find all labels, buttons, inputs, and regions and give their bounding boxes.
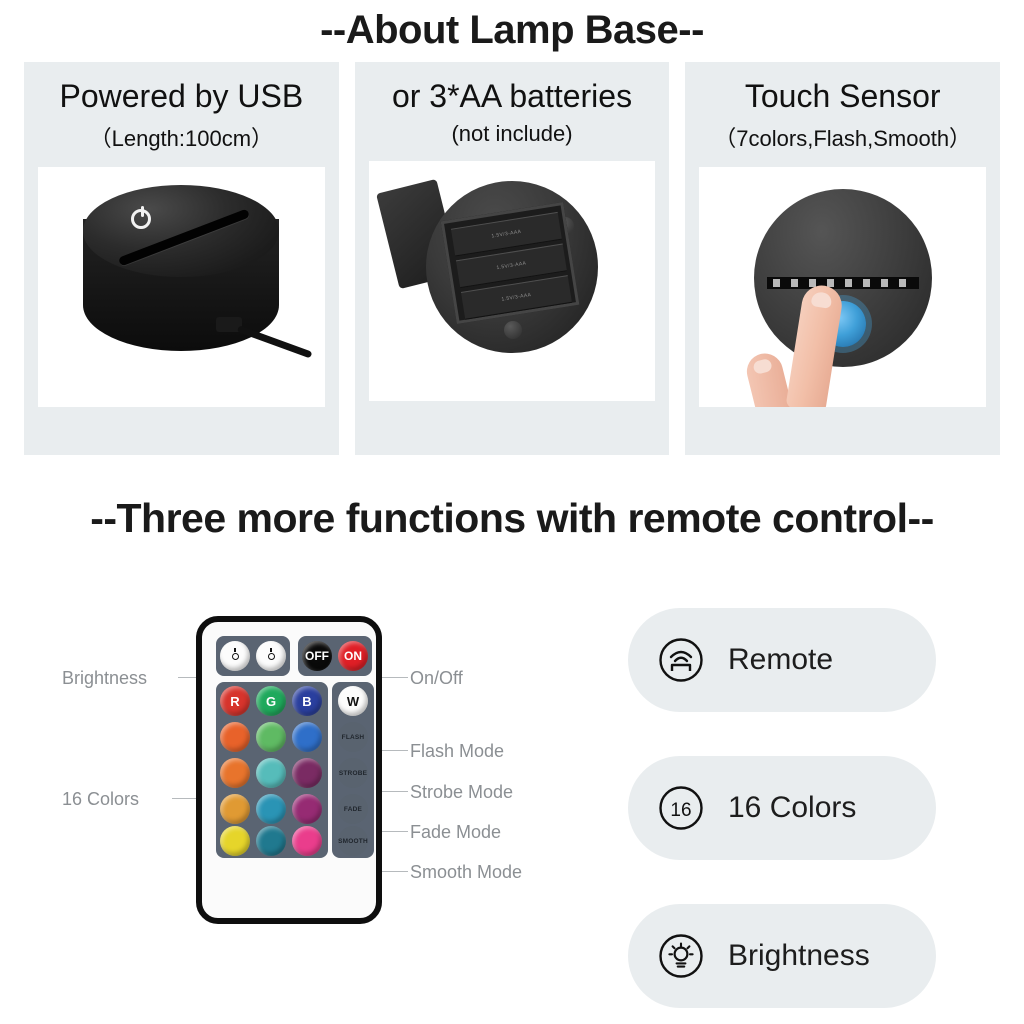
rubber-foot	[504, 321, 522, 339]
lamp-base-top-view	[754, 189, 932, 367]
color-button-11[interactable]	[256, 826, 286, 856]
power-pad: OFF ON	[298, 636, 372, 676]
page-title-remote-functions: --Three more functions with remote contr…	[0, 495, 1024, 542]
color-button-1[interactable]	[220, 722, 250, 752]
badge-label: Brightness	[728, 939, 870, 973]
sun-small-icon	[228, 649, 243, 664]
color-button-6[interactable]	[292, 758, 322, 788]
touch-sensor-photo	[699, 167, 986, 407]
color-button-r[interactable]: R	[220, 686, 250, 716]
card-title: or 3*AA batteries	[392, 76, 632, 116]
badge-label: 16 Colors	[728, 791, 856, 825]
card-subtitle: （Length:100cm）	[90, 121, 273, 153]
leader-line	[382, 677, 408, 678]
battery-compartment-photo: 1.5V/3-AAA 1.5V/3-AAA 1.5V/3-AAA	[369, 161, 656, 401]
color-button-12[interactable]	[292, 826, 322, 856]
badge-remote[interactable]: Remote	[628, 608, 936, 712]
leader-line	[382, 750, 408, 751]
lamp-base-underside: 1.5V/3-AAA 1.5V/3-AAA 1.5V/3-AAA	[426, 181, 598, 353]
callout-strobe-mode: Strobe Mode	[410, 782, 513, 803]
color-button-b[interactable]: B	[292, 686, 322, 716]
mode-pad: W FLASH STROBE FADE SMOOTH	[332, 682, 374, 858]
led-strip	[767, 277, 919, 289]
card-title: Powered by USB	[60, 76, 304, 116]
power-on-button[interactable]: ON	[338, 641, 368, 671]
badge-label: Remote	[728, 643, 833, 677]
color-button-w[interactable]: W	[338, 686, 368, 716]
callout-16-colors: 16 Colors	[62, 789, 139, 810]
smooth-mode-button[interactable]: SMOOTH	[338, 826, 368, 856]
badge-16-colors[interactable]: 16 16 Colors	[628, 756, 936, 860]
card-subtitle: (not include)	[451, 121, 572, 147]
color-button-8[interactable]	[256, 794, 286, 824]
color-button-g[interactable]: G	[256, 686, 286, 716]
color-button-9[interactable]	[292, 794, 322, 824]
svg-text:16: 16	[670, 800, 691, 821]
page-title-about-lamp-base: --About Lamp Base--	[0, 8, 1024, 53]
remote-control[interactable]: OFF ON R G B W FLASH STROBE FADE SMO	[196, 616, 382, 924]
usb-cable	[237, 325, 313, 358]
fade-mode-button[interactable]: FADE	[338, 794, 368, 824]
card-powered-by-usb: Powered by USB （Length:100cm）	[24, 62, 339, 455]
color-button-2[interactable]	[256, 722, 286, 752]
card-title: Touch Sensor	[745, 76, 941, 116]
card-subtitle: （7colors,Flash,Smooth）	[714, 121, 971, 153]
callout-smooth-mode: Smooth Mode	[410, 862, 522, 883]
callout-flash-mode: Flash Mode	[410, 741, 504, 762]
brightness-down-button[interactable]	[220, 641, 250, 671]
leader-line	[382, 791, 408, 792]
flash-mode-button[interactable]: FLASH	[338, 722, 368, 752]
lamp-base-usb-photo	[38, 167, 325, 407]
lamp-base-card-row: Powered by USB （Length:100cm） or 3*AA ba…	[24, 62, 1000, 455]
brightness-pad	[216, 636, 290, 676]
power-symbol-icon	[131, 209, 151, 229]
power-off-button[interactable]: OFF	[302, 641, 332, 671]
leader-line	[382, 831, 408, 832]
strobe-mode-button[interactable]: STROBE	[338, 758, 368, 788]
color-button-3[interactable]	[292, 722, 322, 752]
color-button-5[interactable]	[256, 758, 286, 788]
badge-brightness[interactable]: Brightness	[628, 904, 936, 1008]
callout-fade-mode: Fade Mode	[410, 822, 501, 843]
sun-large-icon	[264, 649, 279, 664]
color-button-4[interactable]	[220, 758, 250, 788]
sixteen-circle-icon: 16	[658, 785, 704, 831]
leader-line	[382, 871, 408, 872]
callout-brightness: Brightness	[62, 668, 147, 689]
card-touch-sensor: Touch Sensor （7colors,Flash,Smooth）	[685, 62, 1000, 455]
color-button-7[interactable]	[220, 794, 250, 824]
brightness-up-button[interactable]	[256, 641, 286, 671]
lightbulb-icon	[658, 933, 704, 979]
lamp-base-top-surface	[83, 185, 279, 277]
color-pad: R G B	[216, 682, 328, 858]
color-button-10[interactable]	[220, 826, 250, 856]
card-aa-batteries: or 3*AA batteries (not include) 1.5V/3-A…	[355, 62, 670, 455]
remote-signal-icon	[658, 637, 704, 683]
callout-on-off: On/Off	[410, 668, 463, 689]
battery-bay: 1.5V/3-AAA 1.5V/3-AAA 1.5V/3-AAA	[441, 202, 580, 324]
